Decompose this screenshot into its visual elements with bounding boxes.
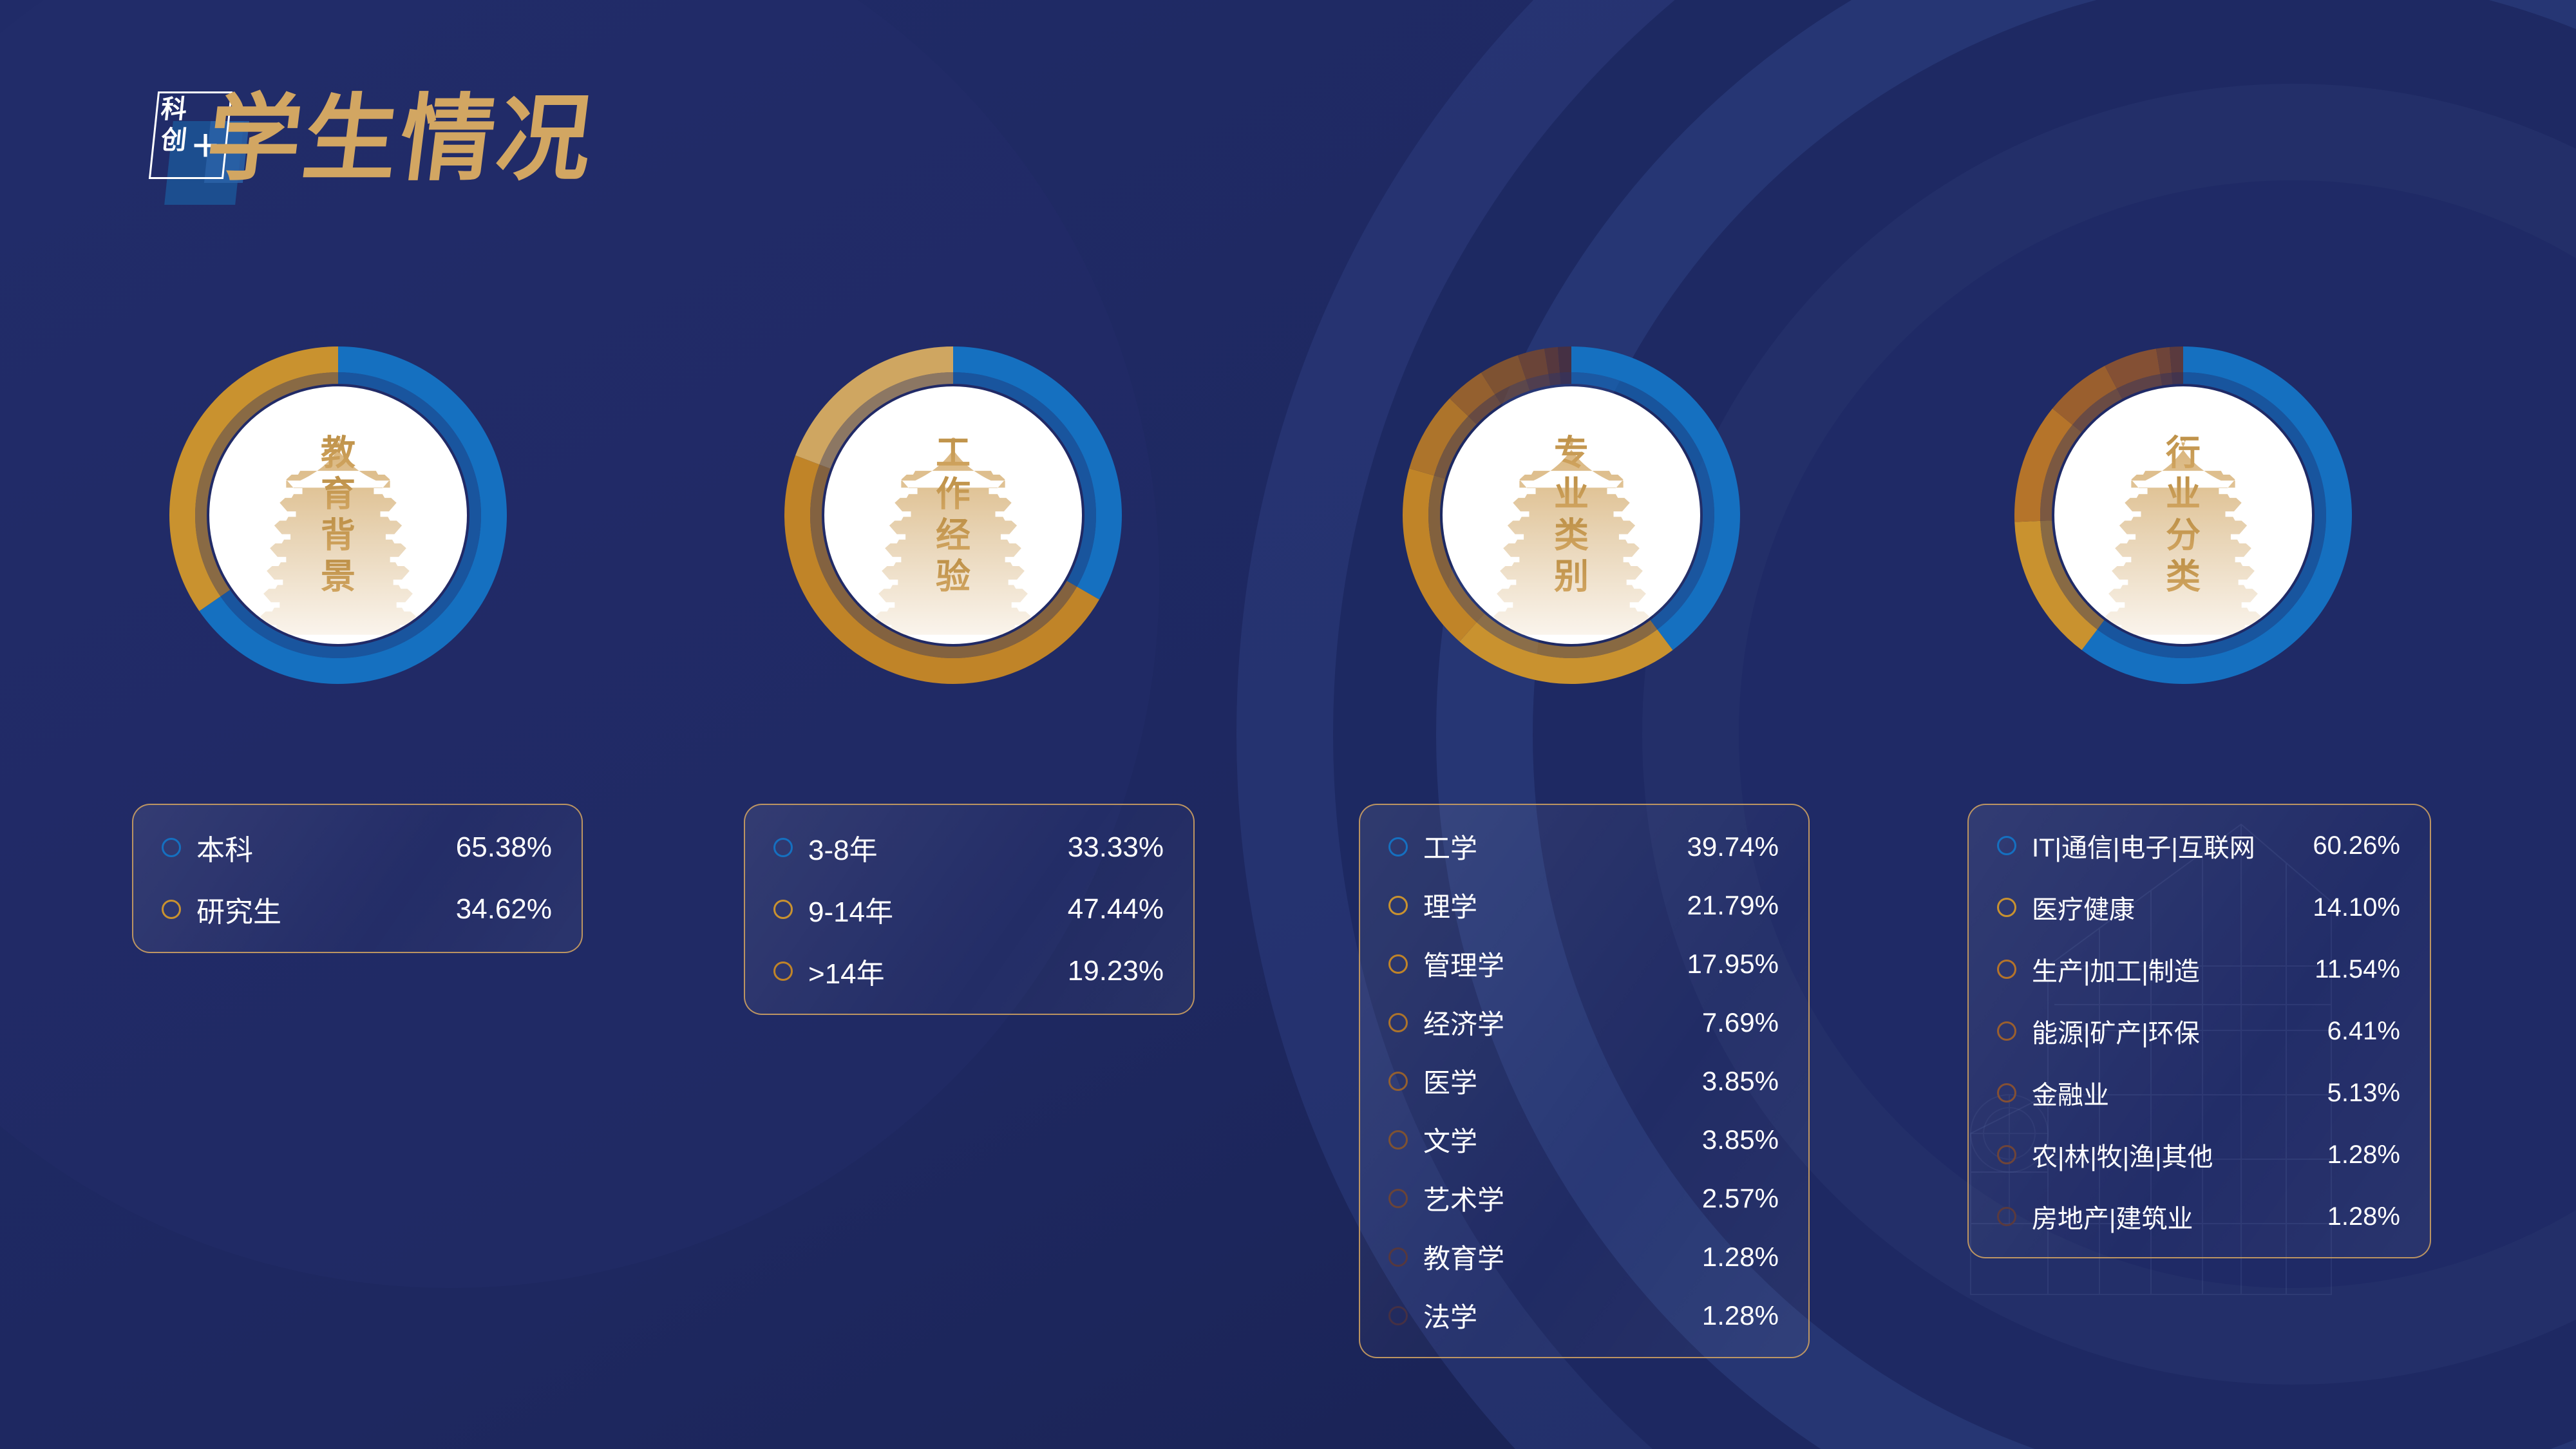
legend-item-label: 法学	[1423, 1296, 1702, 1335]
donut-center-label-char: 工	[936, 433, 971, 472]
donut-center-label-char: 背	[321, 516, 355, 554]
donut-svg: 教育背景	[126, 303, 551, 741]
legend-item-value: 1.28%	[1702, 1242, 1779, 1273]
legend-item-label: 医疗健康	[2032, 889, 2313, 926]
donut-center-label-char: 育	[321, 475, 355, 513]
legend-list-major: 工学39.74%理学21.79%管理学17.95%经济学7.69%医学3.85%…	[1360, 805, 1808, 1357]
legend-item[interactable]: 经济学7.69%	[1388, 1003, 1779, 1042]
donut-chart-education: 教育背景	[126, 303, 551, 741]
page-title: 学生情况	[201, 88, 600, 191]
legend-item-label: 文学	[1423, 1120, 1702, 1159]
legend-item-value: 5.13%	[2327, 1079, 2400, 1108]
legend-item-label: 金融业	[2032, 1074, 2327, 1112]
donut-center-label-char: 经	[936, 516, 971, 554]
donut-segment[interactable]	[2170, 346, 2183, 373]
legend-item[interactable]: 生产|加工|制造11.54%	[1997, 951, 2400, 988]
legend-marker-circle-icon	[1997, 1021, 2016, 1041]
legend-marker-circle-icon	[1388, 1189, 1408, 1208]
legend-item-label: 9-14年	[808, 889, 1068, 930]
legend-list-industry: IT|通信|电子|互联网60.26%医疗健康14.10%生产|加工|制造11.5…	[1969, 805, 2430, 1257]
legend-item[interactable]: 医学3.85%	[1388, 1061, 1779, 1101]
legend-marker-circle-icon	[1997, 898, 2016, 917]
legend-item-label: 工学	[1423, 827, 1687, 866]
legend-item-value: 3.85%	[1702, 1124, 1779, 1155]
legend-item-value: 14.10%	[2313, 893, 2400, 922]
donut-inner-segment	[1548, 373, 1560, 386]
logo-text-ke: 科	[160, 97, 188, 122]
legend-item-value: 1.28%	[2327, 1141, 2400, 1170]
legend-panel-industry: IT|通信|电子|互联网60.26%医疗健康14.10%生产|加工|制造11.5…	[1967, 804, 2431, 1258]
legend-item-label: 研究生	[196, 889, 456, 930]
legend-item[interactable]: 文学3.85%	[1388, 1120, 1779, 1159]
legend-item[interactable]: 9-14年47.44%	[773, 889, 1164, 930]
legend-item[interactable]: 工学39.74%	[1388, 827, 1779, 866]
legend-marker-circle-icon	[1388, 1072, 1408, 1091]
legend-marker-circle-icon	[1388, 1247, 1408, 1267]
donut-center-label-char: 作	[936, 475, 971, 513]
donut-center-label-char: 业	[1554, 475, 1589, 513]
legend-item[interactable]: 医疗健康14.10%	[1997, 889, 2400, 926]
legend-marker-circle-icon	[773, 961, 793, 981]
legend-item[interactable]: 理学21.79%	[1388, 885, 1779, 925]
legend-item-value: 47.44%	[1068, 893, 1164, 925]
legend-item-label: 医学	[1423, 1061, 1702, 1101]
legend-item-value: 1.28%	[2327, 1202, 2400, 1231]
legend-item-value: 7.69%	[1702, 1007, 1779, 1038]
legend-marker-circle-icon	[773, 900, 793, 919]
legend-item-label: 3-8年	[808, 827, 1068, 868]
legend-item-value: 33.33%	[1068, 831, 1164, 864]
donut-center-label-char: 行	[2166, 433, 2201, 472]
legend-marker-circle-icon	[1997, 1207, 2016, 1226]
legend-marker-circle-icon	[1388, 1013, 1408, 1032]
donut-svg: 专业类别	[1359, 303, 1784, 741]
legend-panel-education: 本科65.38%研究生34.62%	[132, 804, 583, 953]
legend-panel-experience: 3-8年33.33%9-14年47.44%>14年19.23%	[744, 804, 1195, 1015]
legend-item[interactable]: 能源|矿产|环保6.41%	[1997, 1012, 2400, 1050]
legend-panel-major: 工学39.74%理学21.79%管理学17.95%经济学7.69%医学3.85%…	[1359, 804, 1810, 1358]
legend-item-value: 17.95%	[1687, 949, 1779, 980]
legend-item-label: 农|林|牧|渔|其他	[2032, 1136, 2327, 1173]
donut-chart-major: 专业类别	[1359, 303, 1784, 741]
legend-marker-circle-icon	[1997, 836, 2016, 855]
legend-item[interactable]: 法学1.28%	[1388, 1296, 1779, 1335]
donut-svg: 工作经验	[741, 303, 1166, 741]
donut-segment[interactable]	[1558, 346, 1571, 373]
donut-center-label-char: 教	[321, 433, 355, 472]
legend-item[interactable]: 房地产|建筑业1.28%	[1997, 1198, 2400, 1235]
legend-item[interactable]: 本科65.38%	[162, 827, 552, 868]
legend-marker-circle-icon	[1388, 896, 1408, 915]
donut-svg: 行业分类	[1971, 303, 2396, 741]
legend-item-value: 21.79%	[1687, 890, 1779, 921]
legend-item-value: 65.38%	[456, 831, 552, 864]
legend-item-label: 艺术学	[1423, 1179, 1702, 1218]
legend-item-value: 6.41%	[2327, 1017, 2400, 1046]
legend-item-label: 房地产|建筑业	[2032, 1198, 2327, 1235]
donut-center-label-char: 分	[2166, 516, 2201, 554]
donut-inner-segment	[1560, 372, 1571, 384]
legend-item-value: 34.62%	[456, 893, 552, 925]
legend-marker-circle-icon	[1997, 1083, 2016, 1103]
donut-inner-segment	[2160, 373, 2172, 386]
legend-item[interactable]: 研究生34.62%	[162, 889, 552, 930]
legend-item-value: 3.85%	[1702, 1066, 1779, 1097]
legend-item-label: 本科	[196, 827, 456, 868]
legend-item-label: 教育学	[1423, 1237, 1702, 1276]
legend-item[interactable]: >14年19.23%	[773, 951, 1164, 992]
logo-text-chuang: 创	[160, 128, 188, 153]
legend-item-label: IT|通信|电子|互联网	[2032, 827, 2313, 864]
legend-item-value: 2.57%	[1702, 1183, 1779, 1214]
donut-chart-industry: 行业分类	[1971, 303, 2396, 741]
donut-chart-experience: 工作经验	[741, 303, 1166, 741]
donut-center-label-char: 验	[936, 557, 971, 596]
legend-marker-circle-icon	[1388, 1130, 1408, 1150]
legend-item-value: 11.54%	[2315, 955, 2400, 984]
legend-item[interactable]: 金融业5.13%	[1997, 1074, 2400, 1112]
legend-item-label: 管理学	[1423, 944, 1687, 983]
legend-item-label: >14年	[808, 951, 1068, 992]
legend-marker-circle-icon	[1388, 954, 1408, 974]
donut-center-label-char: 专	[1554, 433, 1589, 472]
legend-marker-circle-icon	[1388, 837, 1408, 857]
legend-marker-circle-icon	[1997, 960, 2016, 979]
legend-item-value: 19.23%	[1068, 955, 1164, 987]
legend-item-label: 理学	[1423, 885, 1687, 925]
legend-item[interactable]: 农|林|牧|渔|其他1.28%	[1997, 1136, 2400, 1173]
legend-item[interactable]: 艺术学2.57%	[1388, 1179, 1779, 1218]
legend-item[interactable]: IT|通信|电子|互联网60.26%	[1997, 827, 2400, 864]
legend-list-education: 本科65.38%研究生34.62%	[133, 805, 582, 952]
donut-inner-segment	[2172, 372, 2183, 384]
legend-item-label: 经济学	[1423, 1003, 1702, 1042]
legend-marker-circle-icon	[162, 838, 181, 857]
legend-item-label: 能源|矿产|环保	[2032, 1012, 2327, 1050]
donut-center-label-char: 类	[1554, 516, 1589, 554]
donut-center-label-char: 类	[2166, 557, 2201, 596]
donut-chart-row: 教育背景 工作经验 专业类别 行业分类	[0, 303, 2576, 753]
legend-marker-circle-icon	[773, 838, 793, 857]
legend-marker-circle-icon	[162, 900, 181, 919]
donut-center-label-char: 景	[321, 557, 355, 596]
donut-center-label-char: 业	[2166, 475, 2201, 513]
legend-item[interactable]: 3-8年33.33%	[773, 827, 1164, 868]
legend-marker-circle-icon	[1388, 1306, 1408, 1325]
legend-item[interactable]: 管理学17.95%	[1388, 944, 1779, 983]
legend-item-value: 39.74%	[1687, 831, 1779, 862]
legend-list-experience: 3-8年33.33%9-14年47.44%>14年19.23%	[745, 805, 1193, 1014]
legend-item-label: 生产|加工|制造	[2032, 951, 2315, 988]
legend-item-value: 60.26%	[2313, 831, 2400, 860]
donut-center-label-char: 别	[1554, 557, 1589, 596]
legend-marker-circle-icon	[1997, 1145, 2016, 1164]
legend-item[interactable]: 教育学1.28%	[1388, 1237, 1779, 1276]
legend-item-value: 1.28%	[1702, 1300, 1779, 1331]
